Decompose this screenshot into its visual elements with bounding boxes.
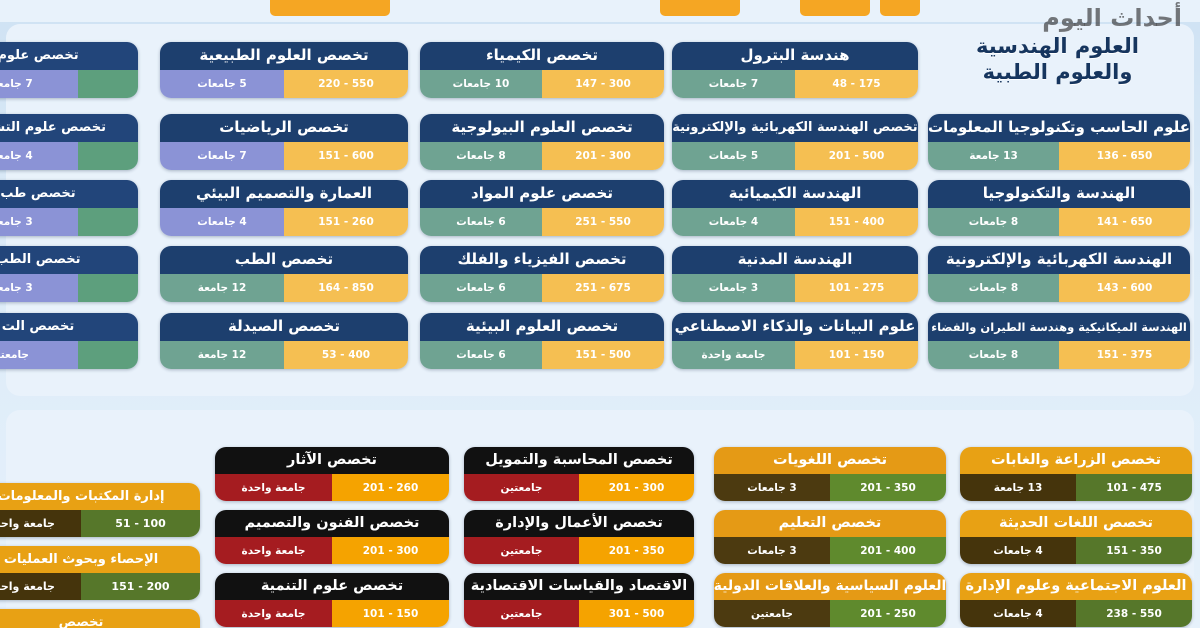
major-card-university-count: 8 جامعات bbox=[928, 341, 1059, 369]
major-card-rank-range: 675 - 251 bbox=[542, 274, 664, 302]
major-card-stats: 3 جامعات350 - 201 bbox=[714, 474, 946, 501]
major-card-rank-range: 650 - 136 bbox=[1059, 142, 1190, 170]
major-card-title: العلوم الاجتماعية وعلوم الإدارة bbox=[960, 573, 1192, 600]
major-card-title: تخصص الكيمياء bbox=[420, 42, 664, 70]
major-card-title: الهندسة الكيميائية bbox=[672, 180, 918, 208]
major-card-rank-range: 275 - 101 bbox=[795, 274, 918, 302]
major-card-stats: 8 جامعات300 - 201 bbox=[420, 142, 664, 170]
major-card-stats: 7 جامعات bbox=[0, 70, 138, 98]
major-card-rank-range: 350 - 151 bbox=[1076, 537, 1192, 564]
major-card-university-count: 7 جامعات bbox=[0, 70, 78, 98]
major-card-rank-range bbox=[78, 142, 138, 170]
major-card: تخصص الصيدلة12 جامعة400 - 53 bbox=[160, 313, 408, 369]
major-card-title: تخصص العلوم البيئية bbox=[420, 313, 664, 341]
major-card-university-count: 8 جامعات bbox=[420, 142, 542, 170]
major-card-university-count: 8 جامعات bbox=[928, 274, 1059, 302]
major-card-rank-range: 200 - 151 bbox=[81, 573, 200, 600]
major-card-title: تخصص علوم المواد bbox=[420, 180, 664, 208]
major-card-rank-range: 175 - 48 bbox=[795, 70, 918, 98]
major-card-title: تخصص الت bbox=[0, 313, 138, 341]
major-card-rank-range bbox=[78, 341, 138, 369]
major-card-university-count: جامعتين bbox=[714, 600, 830, 627]
major-card-cropped: تخصص علوم التشريح4 جامعات bbox=[0, 114, 138, 170]
major-card-stats: جامعة واحدة150 - 101 bbox=[672, 341, 918, 369]
top-banner: RANKINGS bbox=[0, 0, 1200, 22]
major-card-university-count: 3 جامعات bbox=[714, 474, 830, 501]
section-heading-engineering-medical: العلوم الهندسية والعلوم الطبية bbox=[935, 34, 1180, 85]
major-card-rank-range: 300 - 201 bbox=[579, 474, 694, 501]
major-card-title: تخصص التعليم bbox=[714, 510, 946, 537]
major-card: تخصص الزراعة والغابات13 جامعة475 - 101 bbox=[960, 447, 1192, 501]
major-card-university-count: 5 جامعات bbox=[160, 70, 284, 98]
major-card-rank-range: 600 - 151 bbox=[284, 142, 408, 170]
major-card-rank-range: 260 - 201 bbox=[332, 474, 449, 501]
major-card-stats: جامعتين300 - 201 bbox=[464, 474, 694, 501]
major-card-rank-range: 400 - 151 bbox=[795, 208, 918, 236]
major-card: الهندسة والتكنولوجيا8 جامعات650 - 141 bbox=[928, 180, 1190, 236]
major-card-university-count: جامعة واحدة bbox=[672, 341, 795, 369]
major-card: الهندسة الميكانيكية وهندسة الطيران والفض… bbox=[928, 313, 1190, 369]
major-card-rank-range: 850 - 164 bbox=[284, 274, 408, 302]
major-card-title: تخصص الأعمال والإدارة bbox=[464, 510, 694, 537]
major-card-stats: 7 جامعات600 - 151 bbox=[160, 142, 408, 170]
major-card-university-count: 4 جامعات bbox=[160, 208, 284, 236]
major-card-university-count: 6 جامعات bbox=[420, 341, 542, 369]
major-card-university-count: جامعتين bbox=[464, 600, 579, 627]
major-card-university-count: 4 جامعات bbox=[960, 537, 1076, 564]
major-card-title: هندسة البترول bbox=[672, 42, 918, 70]
infographic-canvas: RANKINGS العلوم الهندسية والعلوم الطبية … bbox=[0, 0, 1200, 628]
major-card-stats: 4 جامعات350 - 151 bbox=[960, 537, 1192, 564]
major-card-title: علوم الحاسب وتكنولوجيا المعلومات bbox=[928, 114, 1190, 142]
banner-pill-2 bbox=[660, 0, 740, 16]
major-card: تخصص المحاسبة والتمويلجامعتين300 - 201 bbox=[464, 447, 694, 501]
major-card: تخصص علوم المواد6 جامعات550 - 251 bbox=[420, 180, 664, 236]
major-card-title: تخصص الآثار bbox=[215, 447, 449, 474]
major-card-university-count: 8 جامعات bbox=[928, 208, 1059, 236]
major-card-rank-range: 375 - 151 bbox=[1059, 341, 1190, 369]
major-card-university-count: 12 جامعة bbox=[160, 341, 284, 369]
major-card-university-count: 13 جامعة bbox=[960, 474, 1076, 501]
major-card-stats: جامعة واحدة260 - 201 bbox=[215, 474, 449, 501]
major-card-title: تخصص طب bbox=[0, 180, 138, 208]
major-card-stats: 13 جامعة650 - 136 bbox=[928, 142, 1190, 170]
major-card-title: تخصص الطب bbox=[160, 246, 408, 274]
major-card-title: تخصص اللغات الحديثة bbox=[960, 510, 1192, 537]
major-card: تخصص الهندسة الكهربائية والإلكترونية5 جا… bbox=[672, 114, 918, 170]
major-card: تخصص الطب12 جامعة850 - 164 bbox=[160, 246, 408, 302]
major-card-title: تخصص الصيدلة bbox=[160, 313, 408, 341]
major-card-rank-range: 100 - 51 bbox=[81, 510, 200, 537]
major-card-stats: 8 جامعات600 - 143 bbox=[928, 274, 1190, 302]
major-card-stats: جامعة واحدة100 - 51 bbox=[0, 510, 200, 537]
major-card-stats: 10 جامعات300 - 147 bbox=[420, 70, 664, 98]
major-card-title: تخصص الزراعة والغابات bbox=[960, 447, 1192, 474]
major-card: الاقتصاد والقياسات الاقتصاديةجامعتين500 … bbox=[464, 573, 694, 627]
major-card-rank-range: 400 - 53 bbox=[284, 341, 408, 369]
major-card: تخصص الكيمياء10 جامعات300 - 147 bbox=[420, 42, 664, 98]
major-card-stats: جامعتين350 - 201 bbox=[464, 537, 694, 564]
section-heading-line-2: والعلوم الطبية bbox=[935, 60, 1180, 86]
major-card-rank-range: 250 - 201 bbox=[830, 600, 946, 627]
major-card-cropped: تخصص التجامعتين bbox=[0, 313, 138, 369]
major-card-stats: 8 جامعات650 - 141 bbox=[928, 208, 1190, 236]
major-card-rank-range bbox=[78, 70, 138, 98]
major-card: تخصص الرياضيات7 جامعات600 - 151 bbox=[160, 114, 408, 170]
major-card-university-count: 5 جامعات bbox=[672, 142, 795, 170]
major-card-rank-range: 260 - 151 bbox=[284, 208, 408, 236]
major-card: تخصص اللغات الحديثة4 جامعات350 - 151 bbox=[960, 510, 1192, 564]
major-card-stats: جامعتين250 - 201 bbox=[714, 600, 946, 627]
major-card-title: علوم البيانات والذكاء الاصطناعي bbox=[672, 313, 918, 341]
major-card-rank-range: 150 - 101 bbox=[795, 341, 918, 369]
major-card-title: الهندسة الميكانيكية وهندسة الطيران والفض… bbox=[928, 313, 1190, 341]
major-card-title: تخصص المحاسبة والتمويل bbox=[464, 447, 694, 474]
major-card-stats: 4 جامعات260 - 151 bbox=[160, 208, 408, 236]
section-heading-line-1: العلوم الهندسية bbox=[935, 34, 1180, 60]
major-card: تخصص علوم التنميةجامعة واحدة150 - 101 bbox=[215, 573, 449, 627]
major-card: تخصص العلوم البيئية6 جامعات500 - 151 bbox=[420, 313, 664, 369]
major-card-title: الهندسة المدنية bbox=[672, 246, 918, 274]
major-card-university-count: جامعة واحدة bbox=[0, 510, 81, 537]
major-card-cropped: الإحصاء وبحوث العملياتجامعة واحدة200 - 1… bbox=[0, 546, 200, 600]
major-card-stats: 4 جامعات400 - 151 bbox=[672, 208, 918, 236]
banner-pill-4 bbox=[880, 0, 920, 16]
major-card-university-count: جامعة واحدة bbox=[0, 573, 81, 600]
major-card-stats: 4 جامعات550 - 238 bbox=[960, 600, 1192, 627]
major-card: تخصص الفنون والتصميمجامعة واحدة300 - 201 bbox=[215, 510, 449, 564]
major-card: العمارة والتصميم البيئي4 جامعات260 - 151 bbox=[160, 180, 408, 236]
major-card-rank-range bbox=[78, 208, 138, 236]
major-card-title: تخصص الهندسة الكهربائية والإلكترونية bbox=[672, 114, 918, 142]
major-card: الهندسة المدنية3 جامعات275 - 101 bbox=[672, 246, 918, 302]
major-card-university-count: 6 جامعات bbox=[420, 208, 542, 236]
major-card-rank-range: 600 - 143 bbox=[1059, 274, 1190, 302]
major-card-stats: 5 جامعات500 - 201 bbox=[672, 142, 918, 170]
major-card: علوم الحاسب وتكنولوجيا المعلومات13 جامعة… bbox=[928, 114, 1190, 170]
major-card-title: تخصص اللغويات bbox=[714, 447, 946, 474]
major-card: تخصص التعليم3 جامعات400 - 201 bbox=[714, 510, 946, 564]
major-card-title: العمارة والتصميم البيئي bbox=[160, 180, 408, 208]
major-card-title: الاقتصاد والقياسات الاقتصادية bbox=[464, 573, 694, 600]
major-card: علوم البيانات والذكاء الاصطناعيجامعة واح… bbox=[672, 313, 918, 369]
major-card-title: تخصص العلوم الطبيعية bbox=[160, 42, 408, 70]
major-card-rank-range: 650 - 141 bbox=[1059, 208, 1190, 236]
major-card-university-count: جامعتين bbox=[464, 474, 579, 501]
major-card-title: الهندسة والتكنولوجيا bbox=[928, 180, 1190, 208]
major-card-university-count: 4 جامعات bbox=[672, 208, 795, 236]
major-card-university-count: 13 جامعة bbox=[928, 142, 1059, 170]
major-card-title: تخصص الفنون والتصميم bbox=[215, 510, 449, 537]
major-card: تخصص الأعمال والإدارةجامعتين350 - 201 bbox=[464, 510, 694, 564]
major-card-rank-range: 500 - 301 bbox=[579, 600, 694, 627]
major-card-rank-range: 300 - 201 bbox=[542, 142, 664, 170]
major-card-rank-range: 475 - 101 bbox=[1076, 474, 1192, 501]
major-card-title: الهندسة الكهربائية والإلكترونية bbox=[928, 246, 1190, 274]
major-card-rank-range: 350 - 201 bbox=[579, 537, 694, 564]
major-card-stats: 6 جامعات550 - 251 bbox=[420, 208, 664, 236]
banner-pill-1 bbox=[270, 0, 390, 16]
major-card-title: تخصص العلوم البيولوجية bbox=[420, 114, 664, 142]
major-card-stats: 6 جامعات675 - 251 bbox=[420, 274, 664, 302]
major-card-title: تخصص علوم التشريح bbox=[0, 114, 138, 142]
major-card: تخصص العلوم البيولوجية8 جامعات300 - 201 bbox=[420, 114, 664, 170]
major-card-university-count: جامعة واحدة bbox=[215, 474, 332, 501]
major-card-university-count: جامعة واحدة bbox=[215, 600, 332, 627]
major-card-university-count: 12 جامعة bbox=[160, 274, 284, 302]
major-card-title: تخصص علوم التنمية bbox=[215, 573, 449, 600]
major-card-stats: 12 جامعة850 - 164 bbox=[160, 274, 408, 302]
major-card: العلوم الاجتماعية وعلوم الإدارة4 جامعات5… bbox=[960, 573, 1192, 627]
major-card-cropped: تخصص bbox=[0, 609, 200, 628]
major-card-university-count: 6 جامعات bbox=[420, 274, 542, 302]
major-card-stats: جامعتين bbox=[0, 341, 138, 369]
major-card-stats: جامعة واحدة200 - 151 bbox=[0, 573, 200, 600]
major-card-stats: 12 جامعة400 - 53 bbox=[160, 341, 408, 369]
banner-pill-3 bbox=[800, 0, 870, 16]
major-card-title: تخصص الطب bbox=[0, 246, 138, 274]
major-card-rank-range bbox=[78, 274, 138, 302]
major-card-university-count: 3 جامعات bbox=[0, 274, 78, 302]
major-card-university-count: 7 جامعات bbox=[160, 142, 284, 170]
major-card-university-count: 3 جامعات bbox=[714, 537, 830, 564]
major-card-university-count: 3 جامعات bbox=[0, 208, 78, 236]
major-card-cropped: إدارة المكتبات والمعلوماتجامعة واحدة100 … bbox=[0, 483, 200, 537]
major-card-university-count: جامعتين bbox=[0, 341, 78, 369]
major-card-stats: 8 جامعات375 - 151 bbox=[928, 341, 1190, 369]
major-card-university-count: 7 جامعات bbox=[672, 70, 795, 98]
major-card: الهندسة الكهربائية والإلكترونية8 جامعات6… bbox=[928, 246, 1190, 302]
major-card-stats: 5 جامعات550 - 220 bbox=[160, 70, 408, 98]
major-card-cropped: تخصص طب3 جامعات bbox=[0, 180, 138, 236]
major-card-stats: جامعتين500 - 301 bbox=[464, 600, 694, 627]
major-card: العلوم السياسية والعلاقات الدوليةجامعتين… bbox=[714, 573, 946, 627]
major-card-title: إدارة المكتبات والمعلومات bbox=[0, 483, 200, 510]
major-card-university-count: جامعة واحدة bbox=[215, 537, 332, 564]
major-card-rank-range: 350 - 201 bbox=[830, 474, 946, 501]
major-card: تخصص الفيزياء والفلك6 جامعات675 - 251 bbox=[420, 246, 664, 302]
major-card-rank-range: 300 - 201 bbox=[332, 537, 449, 564]
major-card-stats: جامعة واحدة150 - 101 bbox=[215, 600, 449, 627]
major-card-stats: 3 جامعات bbox=[0, 208, 138, 236]
major-card-stats: جامعة واحدة300 - 201 bbox=[215, 537, 449, 564]
major-card: الهندسة الكيميائية4 جامعات400 - 151 bbox=[672, 180, 918, 236]
major-card-stats: 3 جامعات275 - 101 bbox=[672, 274, 918, 302]
major-card-rank-range: 300 - 147 bbox=[542, 70, 664, 98]
major-card-rank-range: 150 - 101 bbox=[332, 600, 449, 627]
major-card-stats: 7 جامعات175 - 48 bbox=[672, 70, 918, 98]
banner-title: RANKINGS bbox=[61, 0, 270, 8]
major-card-stats: 3 جامعات400 - 201 bbox=[714, 537, 946, 564]
major-card-rank-range: 550 - 220 bbox=[284, 70, 408, 98]
major-card-title: تخصص bbox=[0, 609, 200, 628]
major-card-university-count: 4 جامعات bbox=[960, 600, 1076, 627]
major-card: تخصص العلوم الطبيعية5 جامعات550 - 220 bbox=[160, 42, 408, 98]
major-card-stats: 13 جامعة475 - 101 bbox=[960, 474, 1192, 501]
major-card-university-count: جامعتين bbox=[464, 537, 579, 564]
major-card-rank-range: 400 - 201 bbox=[830, 537, 946, 564]
major-card-rank-range: 550 - 238 bbox=[1076, 600, 1192, 627]
major-card-stats: 4 جامعات bbox=[0, 142, 138, 170]
major-card-university-count: 10 جامعات bbox=[420, 70, 542, 98]
major-card: تخصص اللغويات3 جامعات350 - 201 bbox=[714, 447, 946, 501]
major-card-cropped: تخصص علوم7 جامعات bbox=[0, 42, 138, 98]
major-card: هندسة البترول7 جامعات175 - 48 bbox=[672, 42, 918, 98]
major-card-title: تخصص الرياضيات bbox=[160, 114, 408, 142]
major-card-stats: 6 جامعات500 - 151 bbox=[420, 341, 664, 369]
major-card-title: تخصص علوم bbox=[0, 42, 138, 70]
major-card-stats: 3 جامعات bbox=[0, 274, 138, 302]
major-card-rank-range: 550 - 251 bbox=[542, 208, 664, 236]
major-card-cropped: تخصص الطب3 جامعات bbox=[0, 246, 138, 302]
major-card-rank-range: 500 - 201 bbox=[795, 142, 918, 170]
major-card-title: العلوم السياسية والعلاقات الدولية bbox=[714, 573, 946, 600]
major-card-rank-range: 500 - 151 bbox=[542, 341, 664, 369]
major-card-university-count: 3 جامعات bbox=[672, 274, 795, 302]
major-card-title: تخصص الفيزياء والفلك bbox=[420, 246, 664, 274]
major-card-university-count: 4 جامعات bbox=[0, 142, 78, 170]
major-card: تخصص الآثارجامعة واحدة260 - 201 bbox=[215, 447, 449, 501]
major-card-title: الإحصاء وبحوث العمليات bbox=[0, 546, 200, 573]
